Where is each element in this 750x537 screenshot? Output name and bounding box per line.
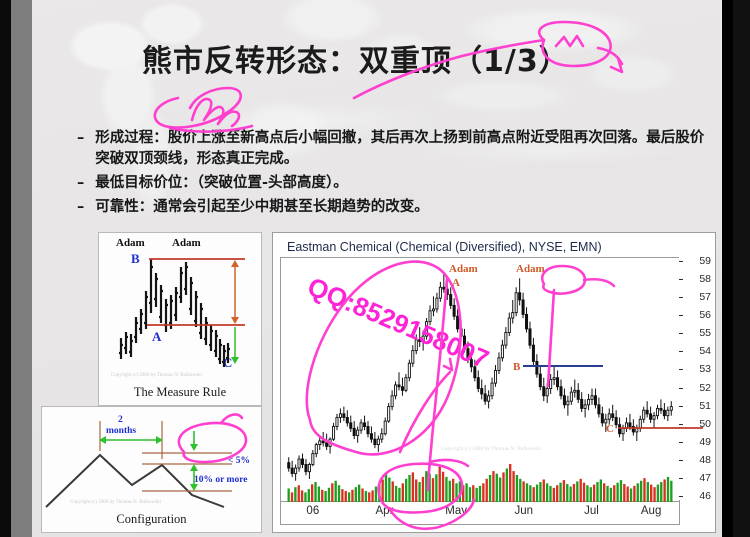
price-tick-mark: [679, 315, 683, 316]
price-axis: 5958575655545352515049484746: [679, 257, 713, 500]
date-tick-label: 06: [306, 505, 319, 517]
chart-label-c: C: [606, 423, 614, 435]
bullet-list: – 形成过程：股价上涨至新高点后小幅回撤，其后再次上扬到前高点附近受阻再次回落。…: [77, 128, 707, 221]
price-tick-label: 52: [699, 382, 711, 394]
configuration-diagram: [42, 407, 261, 511]
chart-title: Eastman Chemical (Chemical (Diversified)…: [287, 240, 602, 254]
price-tick-mark: [679, 388, 683, 389]
figure-caption: The Measure Rule: [99, 385, 261, 400]
price-tick-mark: [679, 279, 683, 280]
bullet-text: 最低目标价位：（突破位置-头部高度）。: [95, 173, 707, 194]
price-tick-mark: [679, 460, 683, 461]
volume-and-date-axis: 06AprMayJunJulAug: [280, 500, 680, 525]
right-black-border: [733, 0, 750, 537]
price-tick-label: 55: [699, 327, 711, 339]
price-tick-label: 54: [699, 345, 711, 357]
price-tick-label: 48: [699, 454, 711, 466]
date-tick-label: Apr: [376, 505, 394, 517]
left-gray-border: [11, 0, 32, 537]
price-tick-label: 51: [699, 400, 711, 412]
bullet-text: 可靠性：通常会引起至少中期甚至长期趋势的改变。: [95, 197, 707, 218]
price-tick-label: 59: [699, 255, 711, 267]
measure-rule-bars: [99, 233, 261, 383]
price-tick-label: 56: [699, 309, 711, 321]
bullet-dash: –: [77, 197, 84, 218]
bullet-text: 形成过程：股价上涨至新高点后小幅回撤，其后再次上扬到前高点附近受阻再次回落。最后…: [95, 128, 707, 170]
price-tick-mark: [679, 369, 683, 370]
chart-adam-label-left: Adam: [449, 263, 478, 275]
left-black-border: [0, 0, 11, 537]
list-item: – 形成过程：股价上涨至新高点后小幅回撤，其后再次上扬到前高点附近受阻再次回落。…: [77, 128, 707, 170]
price-tick-label: 46: [699, 490, 711, 502]
price-tick-mark: [679, 424, 683, 425]
list-item: – 可靠性：通常会引起至少中期甚至长期趋势的改变。: [77, 197, 707, 218]
date-tick-label: May: [445, 505, 467, 517]
bullet-dash: –: [77, 128, 84, 170]
figure-caption: Configuration: [42, 512, 261, 527]
list-item: – 最低目标价位：（突破位置-头部高度）。: [77, 173, 707, 194]
price-tick-mark: [679, 496, 683, 497]
page-title: 熊市反转形态：双重顶（1/3）: [142, 36, 662, 80]
volume-bars: [281, 462, 679, 502]
price-tick-mark: [679, 351, 683, 352]
measure-rule-figure: Adam Adam B A C Copyright (c) 2006 by Th…: [98, 232, 262, 406]
bullet-dash: –: [77, 173, 84, 194]
price-tick-label: 47: [699, 472, 711, 484]
chart-label-b: B: [513, 361, 520, 373]
price-tick-mark: [679, 261, 683, 262]
slide-canvas: 熊市反转形态：双重顶（1/3） – 形成过程：股价上涨至新高点后小幅回撤，其后再…: [0, 0, 750, 537]
price-tick-label: 58: [699, 273, 711, 285]
chart-adam-label-right: Adam: [516, 263, 545, 275]
price-tick-mark: [679, 297, 683, 298]
price-tick-mark: [679, 406, 683, 407]
price-tick-label: 57: [699, 291, 711, 303]
price-tick-label: 49: [699, 436, 711, 448]
price-tick-mark: [679, 442, 683, 443]
chart-copyright-watermark: Copyright (c) 2006 by Thomas N. Bulkowsk…: [441, 446, 541, 452]
slide-content: 熊市反转形态：双重顶（1/3） – 形成过程：股价上涨至新高点后小幅回撤，其后再…: [32, 0, 722, 537]
price-tick-label: 53: [699, 363, 711, 375]
date-tick-label: Jun: [514, 505, 533, 517]
date-tick-label: Jul: [584, 505, 599, 517]
right-shadow: [722, 0, 733, 537]
configuration-figure: 2 months < 5% 10% or more Copyright (c) …: [41, 406, 262, 533]
price-tick-mark: [679, 333, 683, 334]
date-tick-label: Aug: [641, 505, 661, 517]
stock-chart-panel: Eastman Chemical (Chemical (Diversified)…: [272, 232, 716, 533]
price-tick-mark: [679, 478, 683, 479]
price-tick-label: 50: [699, 418, 711, 430]
chart-label-a: A: [452, 277, 460, 289]
